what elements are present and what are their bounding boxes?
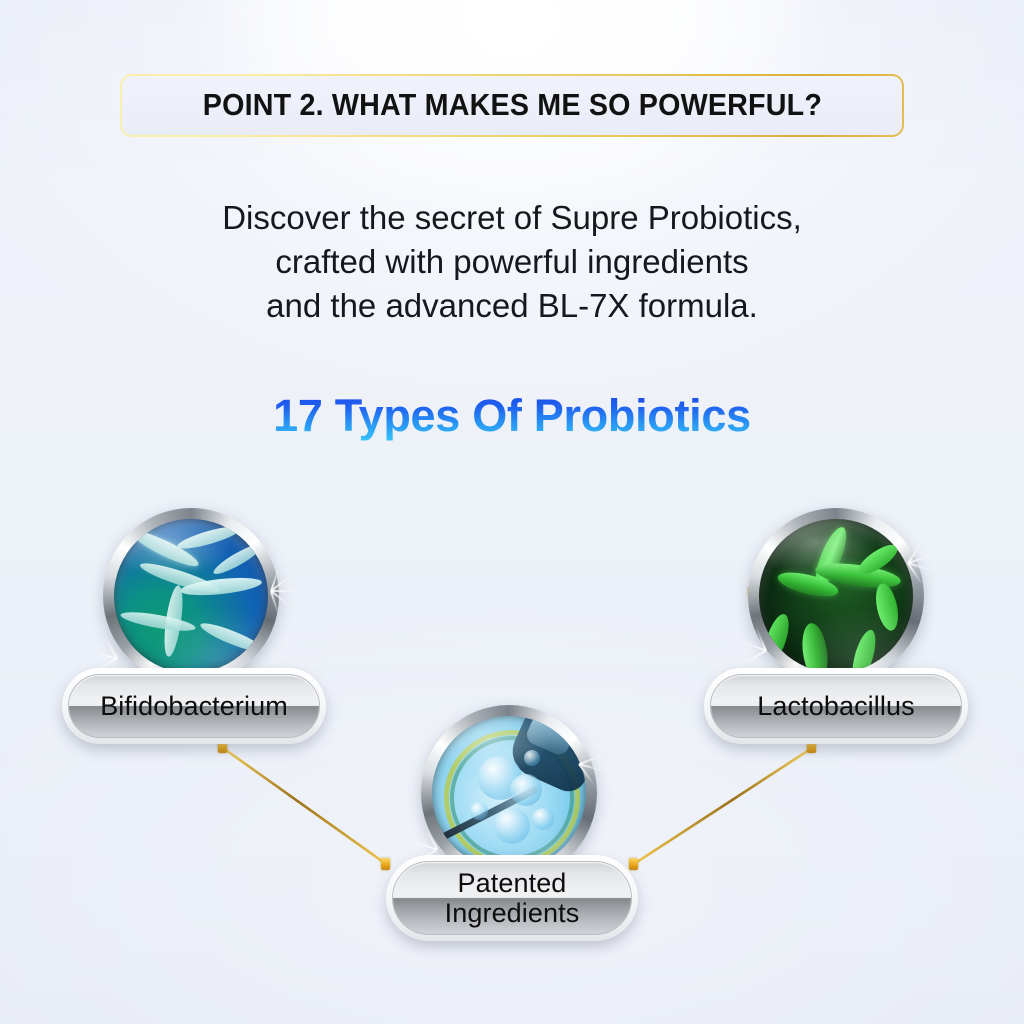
header-banner: POINT 2. WHAT MAKES ME SO POWERFUL? — [120, 74, 904, 137]
connector-node-patented-right — [629, 858, 638, 870]
page-title: POINT 2. WHAT MAKES ME SO POWERFUL? — [202, 88, 821, 123]
intro-line-1: Discover the secret of Supre Probiotics, — [0, 196, 1024, 240]
label-pill-face: Patented Ingredients — [392, 861, 632, 935]
label-pill-patented-ingredients[interactable]: Patented Ingredients — [386, 855, 638, 941]
infographic-slide: POINT 2. WHAT MAKES ME SO POWERFUL? Disc… — [0, 0, 1024, 1024]
header-banner-inner: POINT 2. WHAT MAKES ME SO POWERFUL? — [122, 76, 902, 135]
intro-line-3: and the advanced BL-7X formula. — [0, 284, 1024, 328]
bifidobacterium-orb[interactable] — [103, 508, 279, 684]
intro-line-2: crafted with powerful ingredients — [0, 240, 1024, 284]
section-headline: 17 Types Of Probiotics — [0, 390, 1024, 442]
label-pill-text: Bifidobacterium — [100, 691, 288, 721]
connector-node-patented-left — [381, 858, 390, 870]
intro-paragraph: Discover the secret of Supre Probiotics,… — [0, 196, 1024, 328]
label-pill-bifidobacterium[interactable]: Bifidobacterium — [62, 668, 326, 744]
bifidobacterium-microscopy-icon — [114, 519, 268, 673]
connector-line-right — [634, 748, 812, 864]
label-pill-text: Patented Ingredients — [445, 868, 580, 928]
label-pill-text: Lactobacillus — [757, 691, 914, 721]
label-pill-face: Lactobacillus — [710, 674, 962, 738]
lactobacillus-orb[interactable] — [748, 508, 924, 684]
lab-flask-bubbles-icon — [432, 716, 586, 870]
lactobacillus-microscopy-icon — [759, 519, 913, 673]
label-pill-lactobacillus[interactable]: Lactobacillus — [704, 668, 968, 744]
label-pill-face: Bifidobacterium — [68, 674, 320, 738]
connector-line-left — [223, 748, 386, 864]
